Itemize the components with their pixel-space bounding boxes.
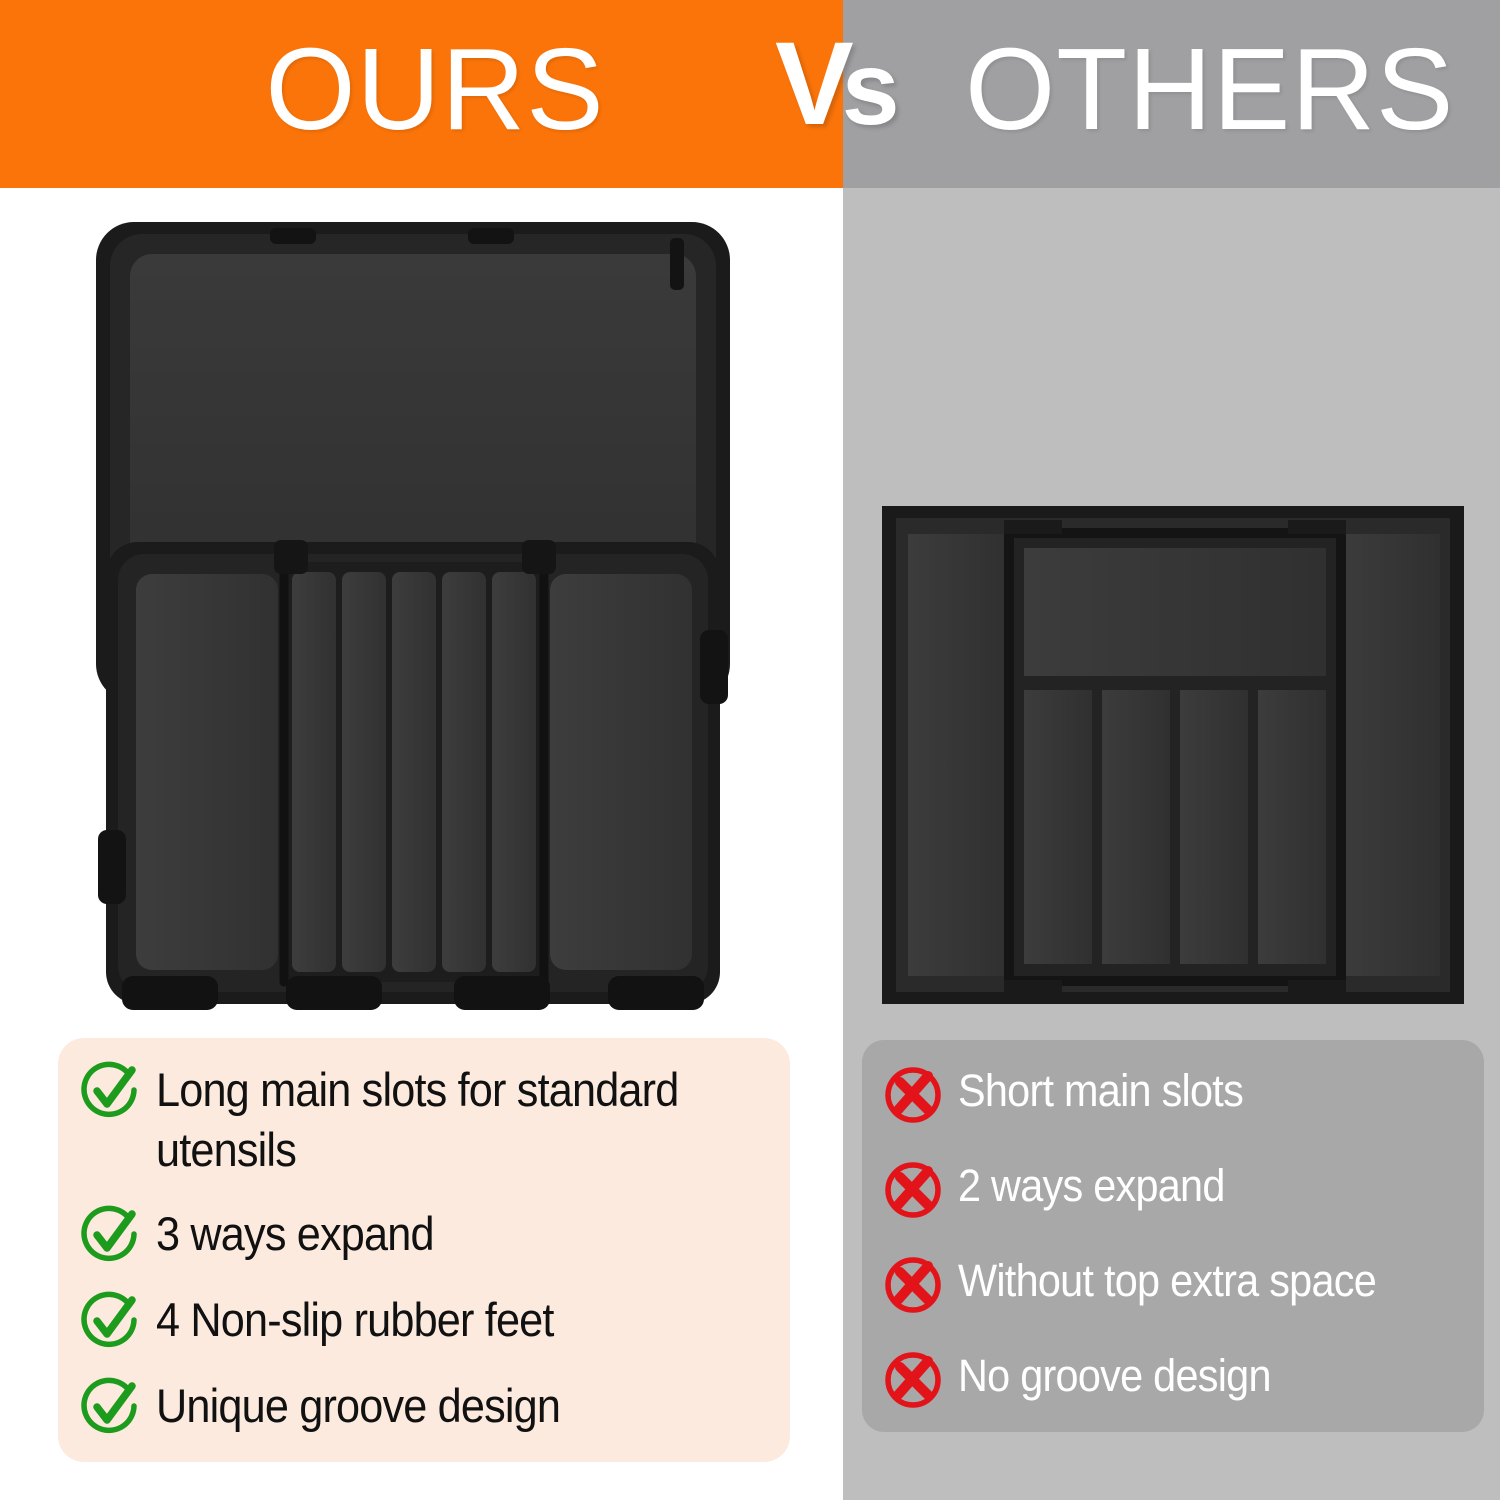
list-item-label: 2 ways expand xyxy=(958,1157,1225,1215)
comparison-infographic: OURS Vs OTHERS xyxy=(0,0,1500,1500)
check-circle-icon xyxy=(80,1290,142,1352)
others-product-image xyxy=(878,500,1468,1010)
ours-product-image xyxy=(88,210,738,1020)
list-item: Unique groove design xyxy=(80,1376,780,1438)
header-bar: OURS Vs OTHERS xyxy=(0,0,1500,188)
header-vs-badge: Vs xyxy=(775,26,900,147)
check-circle-icon xyxy=(80,1060,142,1122)
cross-circle-icon xyxy=(882,1252,944,1314)
list-item: Long main slots for standard utensils xyxy=(80,1060,780,1180)
list-item: 4 Non-slip rubber feet xyxy=(80,1290,780,1352)
check-circle-icon xyxy=(80,1376,142,1438)
list-item-label: Unique groove design xyxy=(156,1376,560,1436)
ours-organizer-illustration xyxy=(88,210,738,1020)
others-feature-panel: Short main slots 2 ways expand xyxy=(862,1040,1484,1432)
list-item: Short main slots xyxy=(882,1062,1482,1124)
list-item: 3 ways expand xyxy=(80,1204,780,1266)
cross-circle-icon xyxy=(882,1157,944,1219)
vs-letter-s: s xyxy=(842,31,900,147)
list-item-label: 4 Non-slip rubber feet xyxy=(156,1290,554,1350)
list-item-label: 3 ways expand xyxy=(156,1204,434,1264)
check-circle-icon xyxy=(80,1204,142,1266)
list-item-label: Without top extra space xyxy=(958,1252,1376,1310)
others-feature-list: Short main slots 2 ways expand xyxy=(862,1040,1484,1432)
cross-circle-icon xyxy=(882,1347,944,1409)
header-title-others: OTHERS xyxy=(965,30,1395,148)
list-item-label: No groove design xyxy=(958,1347,1271,1405)
cross-circle-icon xyxy=(882,1062,944,1124)
list-item-label: Long main slots for standard utensils xyxy=(156,1060,730,1180)
header-title-ours: OURS xyxy=(255,30,615,148)
ours-feature-panel: Long main slots for standard utensils 3 … xyxy=(58,1038,790,1462)
list-item-label: Short main slots xyxy=(958,1062,1243,1120)
list-item: 2 ways expand xyxy=(882,1157,1482,1219)
list-item: Without top extra space xyxy=(882,1252,1482,1314)
ours-feature-list: Long main slots for standard utensils 3 … xyxy=(58,1038,790,1462)
list-item: No groove design xyxy=(882,1347,1482,1409)
others-tray-illustration xyxy=(878,500,1468,1010)
